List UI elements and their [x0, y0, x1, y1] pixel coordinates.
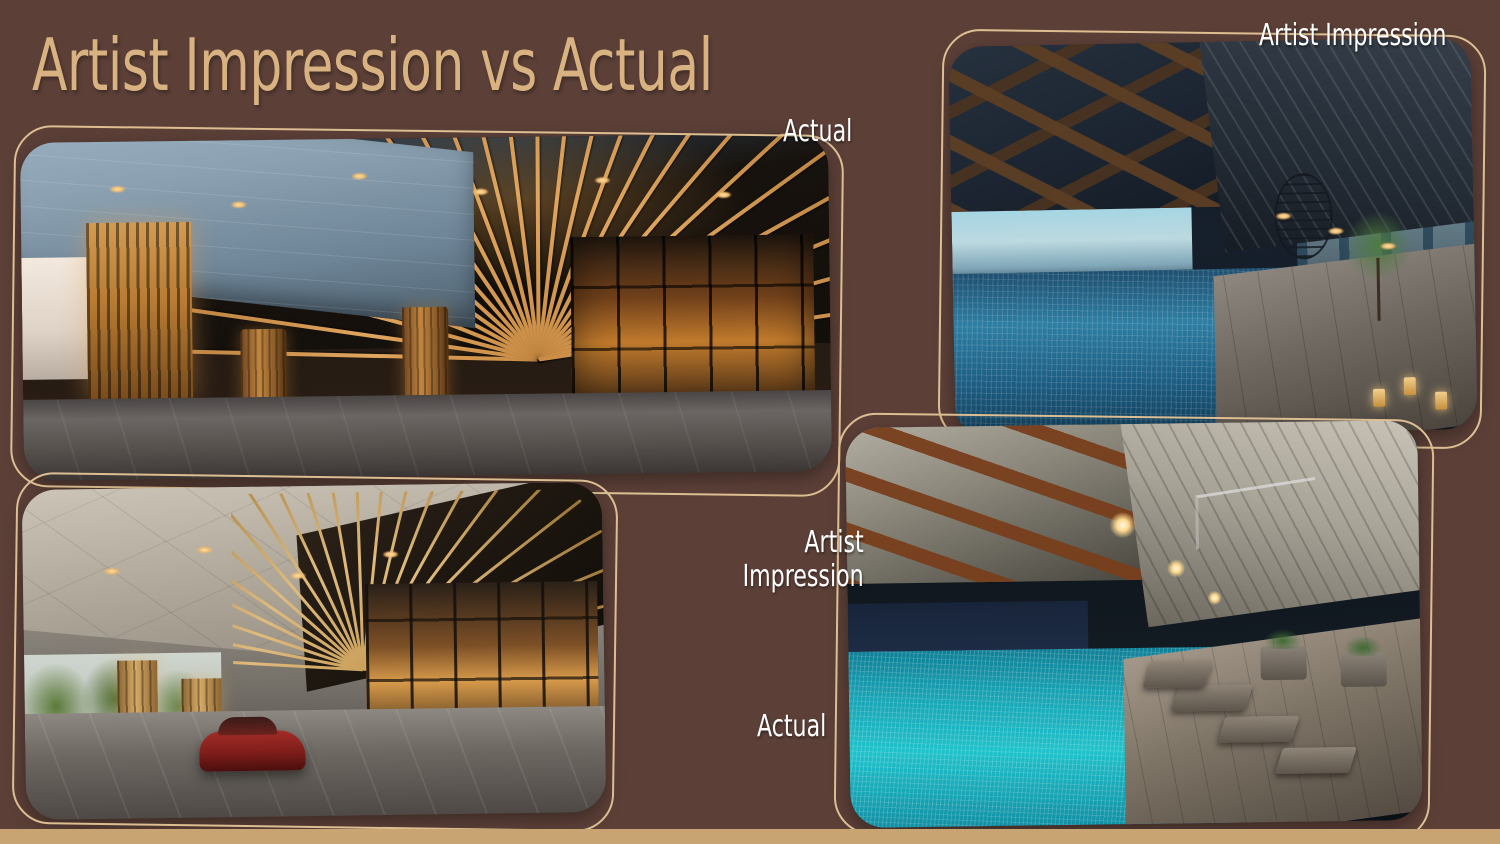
lantern	[1435, 392, 1447, 410]
photo-bottom-right-actual	[845, 420, 1423, 828]
photo-bottom-left-artist-impression	[22, 482, 607, 820]
downlight-icon	[594, 176, 610, 183]
photo-scene	[22, 482, 607, 820]
ground-paving	[25, 706, 606, 820]
planter	[1260, 646, 1306, 681]
photo-top-left-actual	[20, 133, 832, 481]
downlight-icon	[109, 186, 125, 193]
caption-actual-top: Actual	[783, 115, 852, 149]
timber-fin	[231, 488, 365, 670]
lantern	[1404, 377, 1416, 395]
caption-artist-impression-top-right: Artist Impression	[1259, 19, 1446, 53]
bottom-accent-bar	[0, 829, 1500, 844]
photo-top-right-artist-impression	[948, 37, 1477, 439]
caption-actual-bottom: Actual	[757, 710, 826, 744]
planter	[1340, 652, 1386, 687]
photo-frame-top-right[interactable]	[948, 37, 1477, 439]
photo-frame-bottom-right[interactable]	[845, 420, 1423, 828]
glass-facade	[571, 235, 816, 414]
photo-frame-top-left[interactable]	[20, 133, 832, 481]
caption-artist-impression-middle: Artist Impression	[743, 526, 864, 594]
sun-lounger	[1143, 661, 1213, 688]
downlight-icon	[352, 173, 368, 180]
downlight-icon	[231, 201, 247, 208]
ground-paving	[23, 390, 832, 481]
sun-lounger	[1275, 747, 1357, 774]
slat-wall	[86, 222, 193, 399]
downlight-icon	[473, 188, 489, 195]
downlight-icon	[290, 572, 306, 579]
sun-lounger	[1171, 684, 1253, 711]
photo-frame-bottom-left[interactable]	[22, 482, 607, 820]
tree	[1333, 210, 1423, 322]
downlight-icon	[1380, 242, 1396, 249]
sun-lounger	[1218, 716, 1300, 743]
slide-canvas: Artist Impression vs Actual	[0, 0, 1500, 844]
page-title: Artist Impression vs Actual	[32, 26, 713, 104]
photo-scene	[20, 133, 832, 481]
downlight-icon	[382, 551, 398, 558]
photo-scene	[845, 420, 1423, 828]
lantern	[1373, 389, 1385, 407]
photo-scene	[948, 37, 1477, 439]
car	[199, 730, 306, 771]
